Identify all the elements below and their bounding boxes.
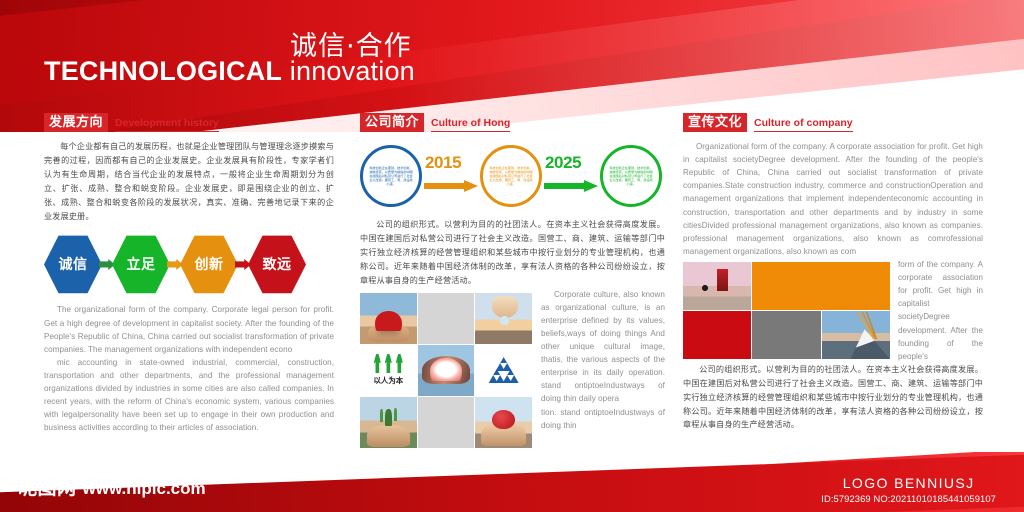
placeholder-grey-2 [418, 397, 475, 448]
hexagon-value-chain: 诚信 立足 创新 致远 [44, 234, 334, 294]
people-icon [373, 354, 404, 373]
person-icon-1 [373, 354, 382, 373]
poster-canvas: 诚信·合作 TECHNOLOGICAL innovation 发展方向 Deve… [0, 0, 1024, 512]
middle-body: 以人为本 Corporat [360, 288, 665, 448]
person-icon-2 [384, 354, 393, 373]
middle-image-grid: 以人为本 [360, 293, 532, 448]
triangle-logo-icon [489, 357, 519, 383]
timeline-year-2015: 2015 [425, 153, 461, 173]
hands-forming-heart-photo [418, 345, 475, 396]
red-color-block [683, 311, 751, 359]
timeline-circle-3: 科技创新正在蓬勃、技术创新、诚信经营，以质量为前提的中国在建国后对私营公司进行了… [600, 145, 662, 207]
section-title-en: Culture of company [754, 117, 853, 132]
brand-name-cn: 昵图网 [18, 473, 77, 500]
timeline-year-2025: 2025 [545, 153, 581, 173]
orange-color-block [752, 262, 890, 310]
people-tile-caption: 以人为本 [374, 375, 404, 386]
triangles-logo-tile [475, 345, 532, 396]
title-english-bold: TECHNOLOGICAL [44, 56, 282, 86]
timeline-connector-1: 2015 [422, 145, 480, 207]
title-english-light: innovation [290, 56, 415, 86]
timeline-circle-1-text: 科技创新正在蓬勃、技术创新、诚信经营，以质量为前提的中国在建国后对私营公司进行了… [369, 166, 413, 187]
hexagon-chuangxin[interactable]: 创新 [180, 234, 238, 294]
hand-water-drop-photo [475, 293, 532, 344]
right-image-grid [683, 262, 890, 359]
section-title-cn: 发展方向 [44, 113, 108, 132]
middle-side-text: Corporate culture, also known as organiz… [541, 288, 665, 448]
apple-in-hands-photo [475, 397, 532, 448]
middle-chinese-paragraph: 公司的组织形式。以营利为目的的社团法人。在资本主义社会获得高度发展。中国在建国后… [360, 218, 665, 288]
timeline-circle-3-text: 科技创新正在蓬勃、技术创新、诚信经营，以质量为前提的中国在建国后对私营公司进行了… [609, 166, 653, 187]
section-header-company-profile: 公司简介 Culture of Hong [360, 112, 665, 132]
footer-banner: 昵图网 www.nipic.com LOGO BENNIUSJ ID:57923… [0, 452, 1024, 512]
middle-english-paragraph-2: tion. stand ontiptoeIndustways of doing … [541, 406, 665, 432]
section-header-culture: 宣传文化 Culture of company [683, 112, 983, 132]
left-chinese-paragraph: 每个企业都有自己的发展历程，也就是企业管理团队与管理理念逐步摸索与完善的过程，因… [44, 140, 334, 223]
section-header-development-history: 发展方向 Development history [44, 112, 334, 132]
timeline-arrow-icon-2 [544, 180, 598, 192]
left-english-paragraph-2: mic accounting in state-owned industrial… [44, 356, 334, 435]
column-company-profile: 公司简介 Culture of Hong 科技创新正在蓬勃、技术创新、诚信经营，… [360, 112, 665, 448]
title-english: TECHNOLOGICAL innovation [44, 58, 415, 85]
timeline-circle-1: 科技创新正在蓬勃、技术创新、诚信经营，以质量为前提的中国在建国后对私营公司进行了… [360, 145, 422, 207]
left-english-paragraph-1: The organizational form of the company. … [44, 303, 334, 355]
placeholder-grey-1 [418, 293, 475, 344]
brand-url[interactable]: www.nipic.com [83, 479, 206, 499]
timeline-circle-2-text: 科技创新正在蓬勃、技术创新、诚信经营，以质量为前提的中国在建国后对私营公司进行了… [489, 166, 533, 187]
logo-id: ID:5792369 NO:20211010185441059107 [821, 493, 996, 504]
dandelion-clock-photo [683, 262, 751, 310]
right-body: form of the company. A corporate associa… [683, 258, 983, 363]
section-title-cn: 宣传文化 [683, 113, 747, 132]
hexagon-chengxin[interactable]: 诚信 [44, 234, 102, 294]
logo-block: LOGO BENNIUSJ ID:5792369 NO:202110101854… [821, 475, 996, 505]
section-title-cn: 公司简介 [360, 113, 424, 132]
column-culture: 宣传文化 Culture of company Organizational f… [683, 112, 983, 432]
heart-in-hands-photo [360, 293, 417, 344]
timeline-arrow-icon-1 [424, 180, 478, 192]
person-icon-3 [395, 354, 404, 373]
timeline-diagram: 科技创新正在蓬勃、技术创新、诚信经营，以质量为前提的中国在建国后对私营公司进行了… [360, 140, 665, 212]
middle-english-paragraph: Corporate culture, also known as organiz… [541, 288, 665, 406]
right-chinese-paragraph: 公司的组织形式。以营利为目的的社团法人。在资本主义社会获得高度发展。中国在建国后… [683, 363, 983, 433]
grey-color-block [752, 311, 820, 359]
section-title-en: Culture of Hong [431, 117, 510, 132]
column-development-history: 发展方向 Development history 每个企业都有自己的发展历程，也… [44, 112, 334, 435]
hexagon-zhiyuan[interactable]: 致远 [248, 234, 306, 294]
site-brand[interactable]: 昵图网 www.nipic.com [18, 473, 206, 500]
hexagon-lizu[interactable]: 立足 [112, 234, 170, 294]
people-icon-tile: 以人为本 [360, 345, 417, 396]
right-english-paragraph: Organizational form of the company. A co… [683, 140, 983, 258]
logo-name: LOGO BENNIUSJ [821, 475, 996, 493]
timeline-circle-2: 科技创新正在蓬勃、技术创新、诚信经营，以质量为前提的中国在建国后对私营公司进行了… [480, 145, 542, 207]
mountain-peak-photo [822, 311, 890, 359]
sprout-in-hands-photo [360, 397, 417, 448]
section-title-en: Development history [115, 117, 219, 132]
timeline-connector-2: 2025 [542, 145, 600, 207]
